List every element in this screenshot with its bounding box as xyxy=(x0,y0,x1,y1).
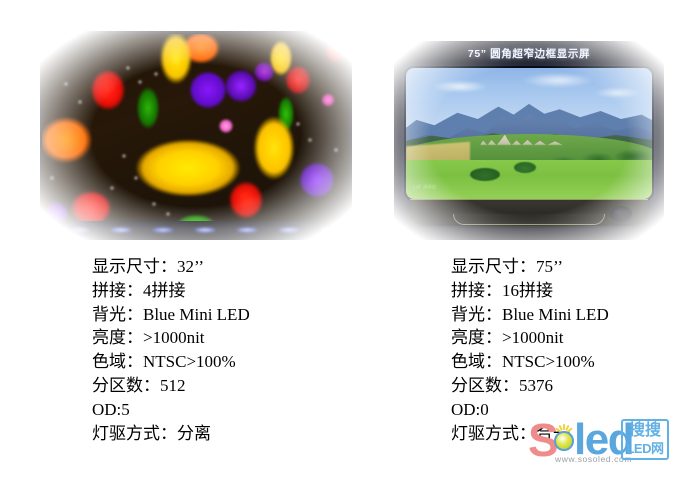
spec-backlight: 背光：Blue Mini LED xyxy=(451,303,609,327)
right-tv-stand-knob xyxy=(610,206,632,222)
spec-display-size: 显示尺寸：75’’ xyxy=(451,255,609,279)
landscape-bush xyxy=(514,162,536,173)
badge-line-bottom: LED网 xyxy=(623,440,667,457)
booth-caption: 75” 圆角超窄边框显示屏 xyxy=(394,46,664,61)
booth-floor xyxy=(394,228,664,240)
left-tv-screen xyxy=(42,34,350,222)
left-tv-bottom-bezel xyxy=(40,221,352,240)
spec-brightness: 亮度：>1000nit xyxy=(451,326,609,350)
left-product-photo xyxy=(40,31,352,240)
right-tv-booth-background: 75” 圆角超窄边框显示屏 LIF /FPD xyxy=(394,41,664,240)
badge-line-top: 搜搜 xyxy=(623,421,667,440)
landscape-bush xyxy=(470,168,500,181)
spec-color-gamut: 色域：NTSC>100% xyxy=(92,350,250,374)
left-spec-list: 显示尺寸：32’’ 拼接：4拼接 背光：Blue Mini LED 亮度：>10… xyxy=(92,255,250,445)
right-tv-stand xyxy=(410,199,648,226)
right-tv-screen: LIF /FPD xyxy=(406,68,652,199)
blue-mini-led-strip-icon xyxy=(46,226,346,234)
spec-od: OD:0 xyxy=(451,398,609,422)
right-product-photo: 75” 圆角超窄边框显示屏 LIF /FPD xyxy=(394,41,664,240)
logo-url: www.sosoled.com xyxy=(555,454,632,464)
spec-od: OD:5 xyxy=(92,398,250,422)
spec-backlight: 背光：Blue Mini LED xyxy=(92,303,250,327)
spec-brightness: 亮度：>1000nit xyxy=(92,326,250,350)
right-tv-frame: LIF /FPD xyxy=(404,66,654,201)
left-tv-frame xyxy=(40,31,352,240)
right-tv-stand-foot xyxy=(453,214,605,225)
screen-corner-watermark: LIF /FPD xyxy=(413,185,436,191)
spec-driver-mode: 灯驱方式：分离 xyxy=(92,422,250,446)
spec-tiling: 拼接：4拼接 xyxy=(92,279,250,303)
sosoled-badge: 搜搜 LED网 xyxy=(621,419,669,460)
spec-zone-count: 分区数：512 xyxy=(92,374,250,398)
spec-zone-count: 分区数：5376 xyxy=(451,374,609,398)
spec-tiling: 拼接：16拼接 xyxy=(451,279,609,303)
spec-display-size: 显示尺寸：32’’ xyxy=(92,255,250,279)
right-spec-list: 显示尺寸：75’’ 拼接：16拼接 背光：Blue Mini LED 亮度：>1… xyxy=(451,255,609,445)
spec-color-gamut: 色域：NTSC>100% xyxy=(451,350,609,374)
spec-driver-mode: 灯驱方式：合一 xyxy=(451,422,609,446)
flower-bouquet-image xyxy=(42,34,350,222)
